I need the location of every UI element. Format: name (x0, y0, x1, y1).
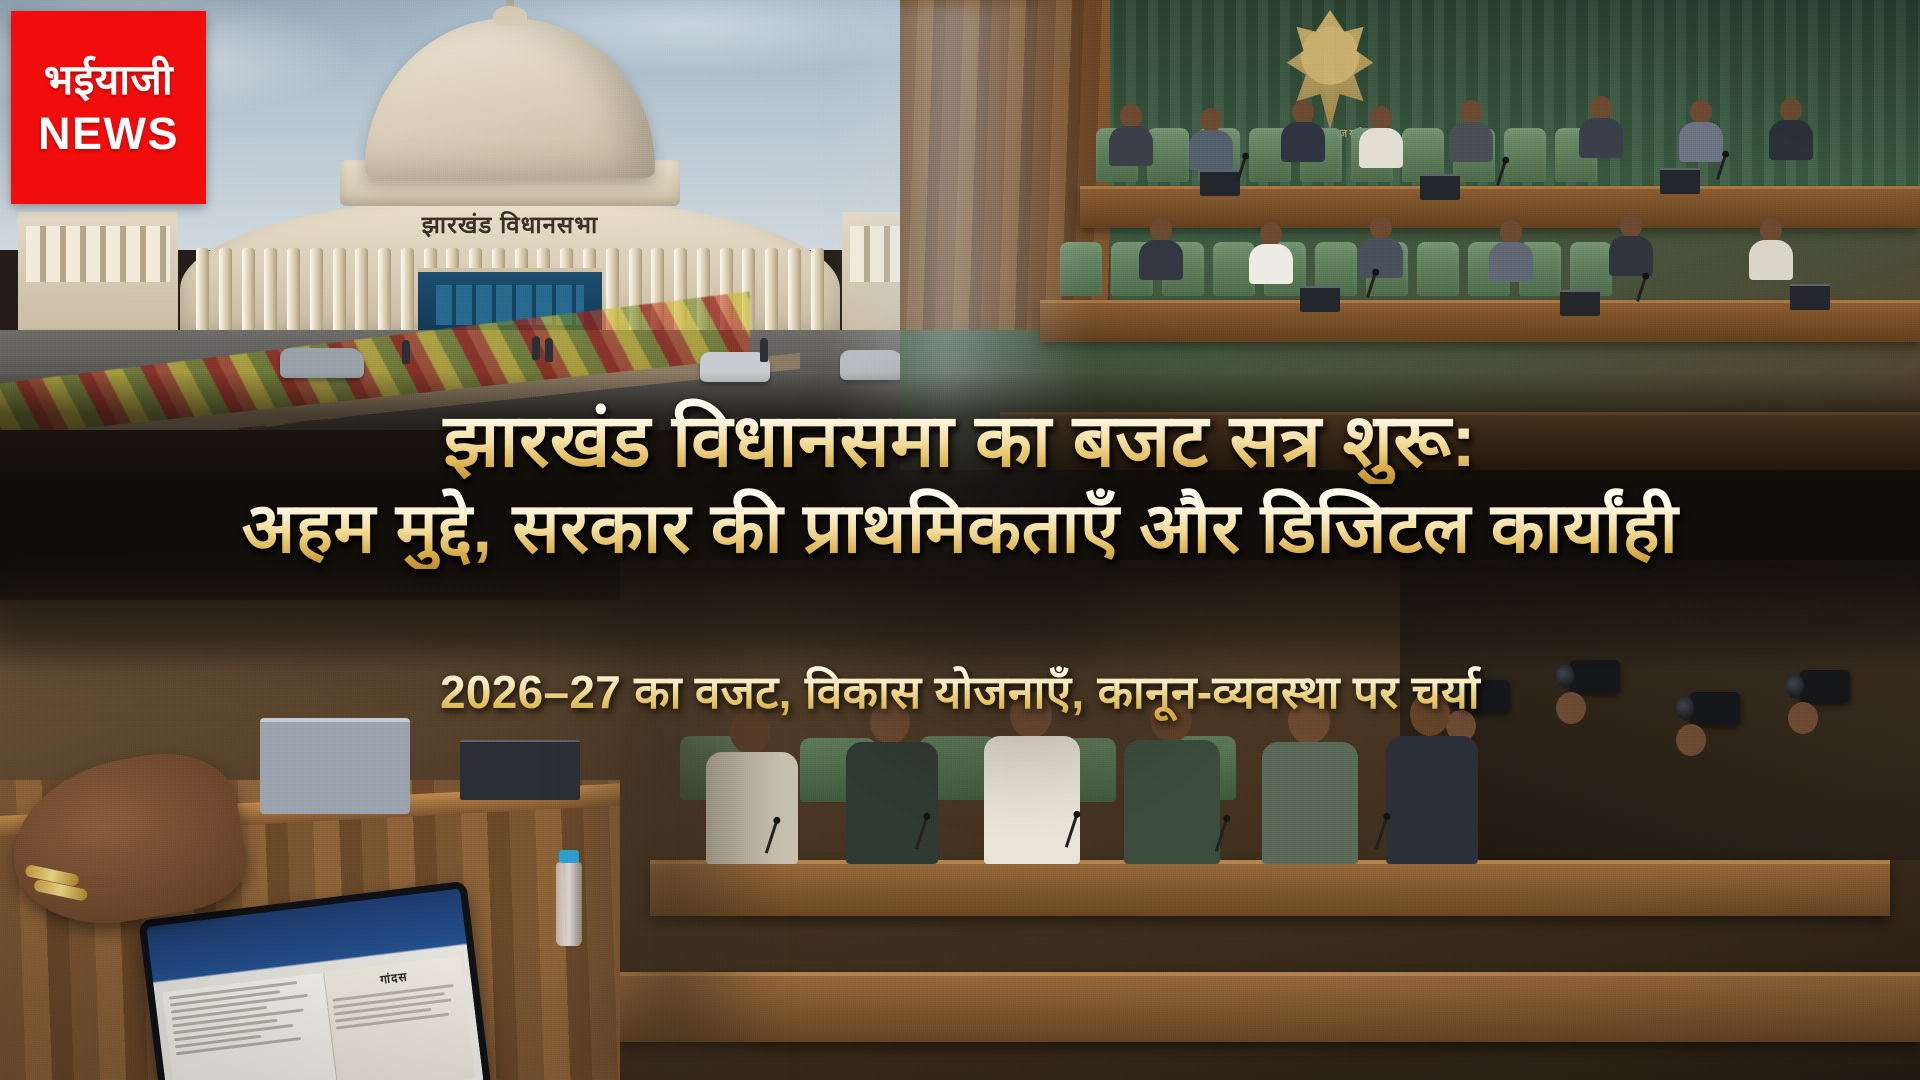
subheadline: 2026–27 का वजट, विकास योजनाएँ, कानून-व्य… (0, 660, 1920, 722)
logo-news-wordmark: NEWS (38, 111, 179, 156)
channel-logo[interactable]: भईयाजी NEWS (11, 11, 206, 204)
headline-line-2: अहम मुद्दे, सरकार की प्राथमिकताएँ और डिज… (0, 488, 1920, 569)
news-graphic-canvas: झारखंड विधानसभा सत्यमेव जयते (0, 0, 1920, 1080)
headline-block: झारखंड विधानसमा का बजट सत्र शुरू: अहम मु… (0, 398, 1920, 569)
headline-line-1: झारखंड विधानसमा का बजट सत्र शुरू: (0, 398, 1920, 484)
logo-hindi-wordmark: भईयाजी (44, 59, 173, 101)
